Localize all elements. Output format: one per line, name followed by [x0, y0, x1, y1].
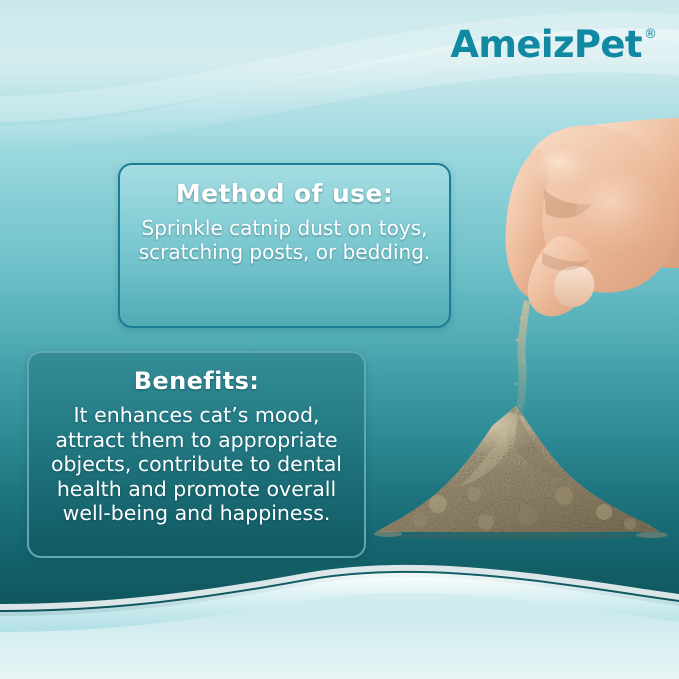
- thumbnail: [554, 266, 594, 307]
- pile-base-grain: [636, 532, 668, 538]
- card-method-of-use: Method of use: Sprinkle catnip dust on t…: [118, 163, 451, 328]
- pile-shadow: [398, 532, 638, 540]
- wave-bottom-fill: [0, 577, 679, 679]
- pile-base-grain: [374, 531, 402, 537]
- card-benefits: Benefits: It enhances cat’s mood, attrac…: [27, 351, 366, 558]
- catnip-powder-pile: [368, 398, 668, 558]
- brand-logo: AmeizPet ®: [450, 26, 657, 63]
- brand-logo-text: AmeizPet: [450, 26, 642, 63]
- card-benefits-title: Benefits:: [45, 367, 348, 395]
- hand-highlight: [576, 174, 664, 254]
- dust-particle: [515, 383, 518, 386]
- wave-bottom-band: [0, 573, 679, 632]
- product-infographic: AmeizPet ®: [0, 0, 679, 679]
- card-method-title: Method of use:: [136, 179, 433, 208]
- card-benefits-body: It enhances cat’s mood, attract them to …: [45, 403, 348, 526]
- pile-texture: [368, 412, 668, 538]
- hand-sprinkling-image: [470, 118, 679, 363]
- card-method-body: Sprinkle catnip dust on toys, scratching…: [136, 217, 433, 265]
- registered-trademark-icon: ®: [644, 28, 657, 41]
- wave-bottom-crest: [0, 565, 679, 610]
